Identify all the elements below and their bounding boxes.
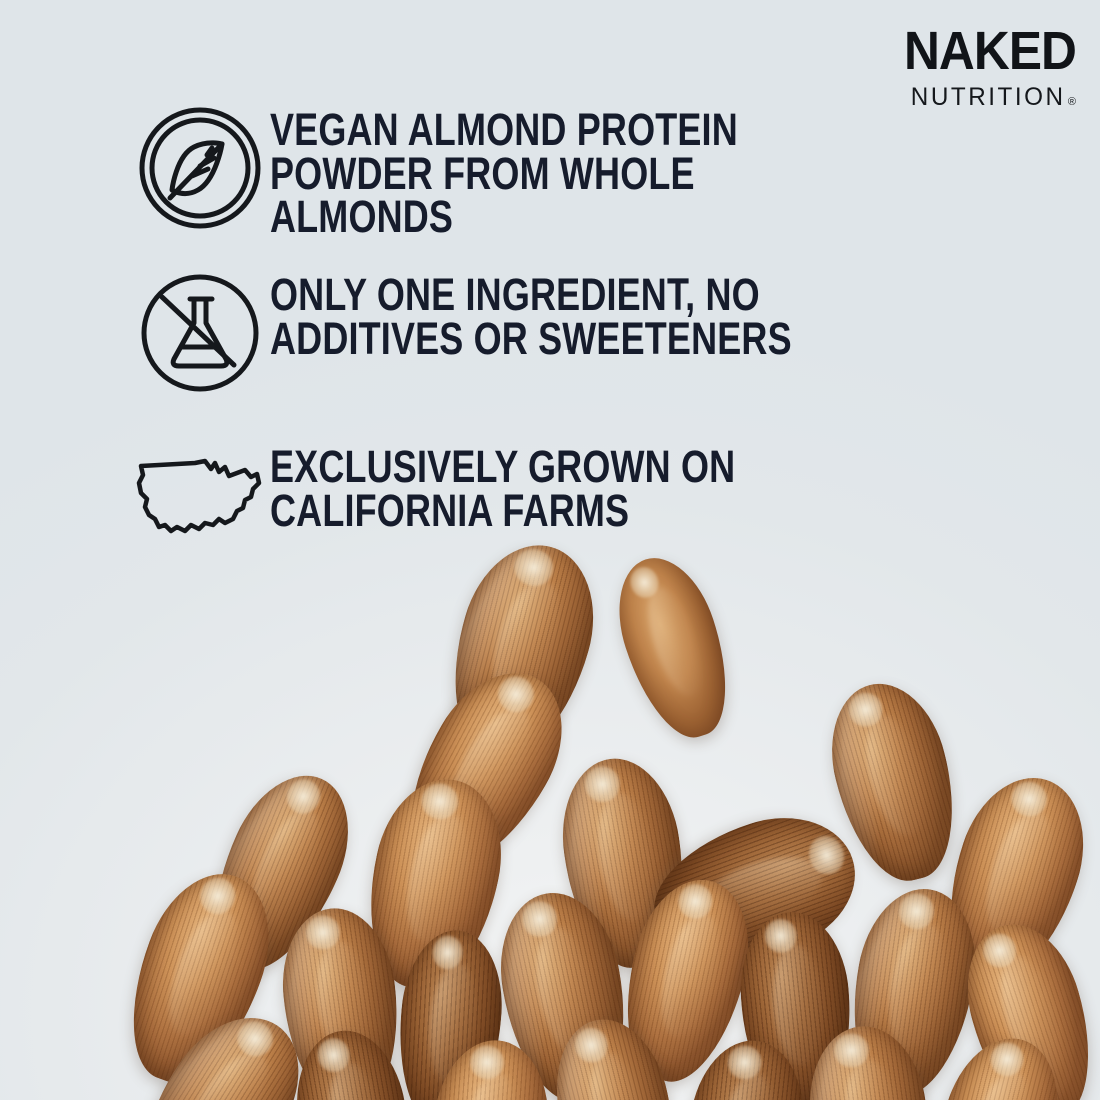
benefit-item: EXCLUSIVELY GROWN ON CALIFORNIA FARMS bbox=[130, 441, 980, 539]
leaf-in-circle-icon bbox=[130, 104, 270, 230]
benefit-item: VEGAN ALMOND PROTEIN POWDER FROM WHOLE A… bbox=[130, 104, 980, 239]
registered-trademark-icon: ® bbox=[1068, 97, 1076, 108]
almond-photo bbox=[0, 540, 1100, 1100]
marketing-image: NAKED NUTRITION ® VEGAN ALMOND PROTEIN P… bbox=[0, 0, 1100, 1100]
benefit-text: EXCLUSIVELY GROWN ON CALIFORNIA FARMS bbox=[270, 441, 838, 532]
benefit-item: ONLY ONE INGREDIENT, NO ADDITIVES OR SWE… bbox=[130, 269, 980, 395]
usa-map-outline-icon bbox=[130, 441, 270, 539]
benefit-list: VEGAN ALMOND PROTEIN POWDER FROM WHOLE A… bbox=[130, 104, 980, 539]
almond bbox=[602, 545, 747, 749]
benefit-text: ONLY ONE INGREDIENT, NO ADDITIVES OR SWE… bbox=[270, 269, 838, 360]
brand-logo: NAKED NUTRITION ® bbox=[889, 24, 1076, 110]
benefit-text: VEGAN ALMOND PROTEIN POWDER FROM WHOLE A… bbox=[270, 104, 838, 239]
brand-name: NAKED bbox=[904, 24, 1076, 78]
no-chemicals-flask-icon bbox=[130, 269, 270, 395]
